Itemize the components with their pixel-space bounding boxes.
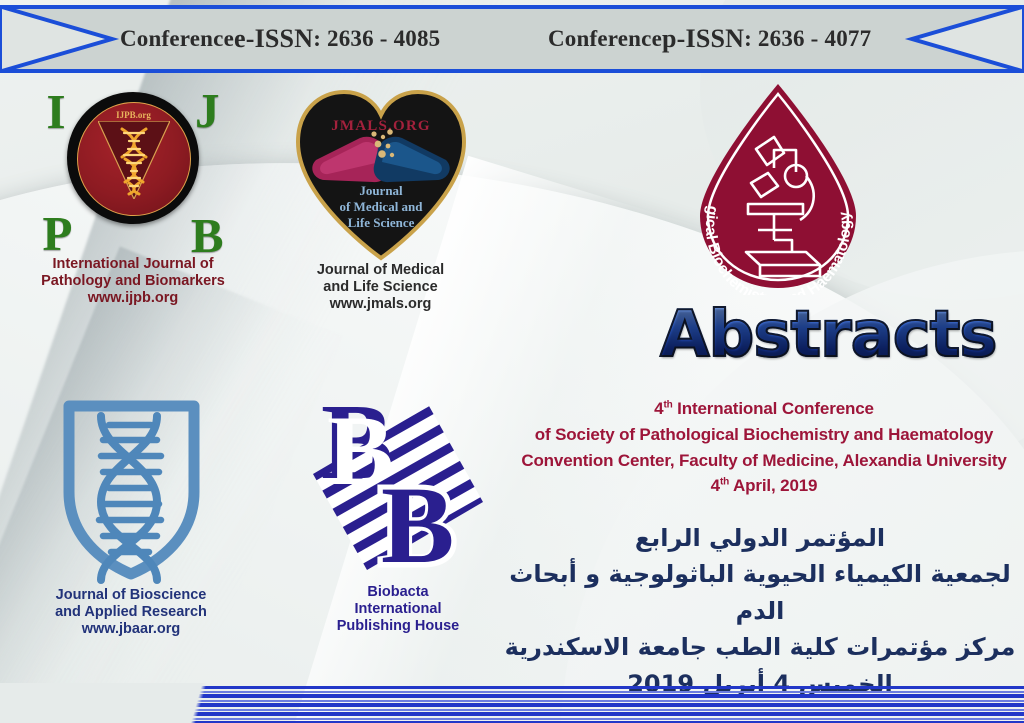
svg-text:Life Science: Life Science (347, 215, 414, 230)
logo-ijpb[interactable]: I J P B IJPB.org (8, 86, 258, 306)
conference-abstract-cover: Conference e-ISSN : 2636 - 4085 Conferen… (0, 0, 1024, 723)
conference-ordinal-suffix: th (663, 399, 672, 410)
conference-ar-line-1: المؤتمر الدولي الرابع (504, 520, 1016, 556)
svg-text:Journal: Journal (359, 183, 403, 198)
logo-biobacta[interactable]: B B B B Biobacta International Publishin… (292, 392, 504, 634)
logo-jmals[interactable]: JMALS.ORG (278, 82, 483, 312)
bottom-stripe-decoration (0, 683, 1024, 723)
jbaar-caption-url: www.jbaar.org (12, 621, 250, 638)
jbaar-shield-dna-icon (39, 392, 224, 587)
jbaar-caption-line1: Journal of Bioscience (12, 587, 250, 604)
issn-ribbon-banner: Conference e-ISSN : 2636 - 4085 Conferen… (0, 4, 1024, 74)
society-blooddrop-icon: Society of Pathological Biochemistry and… (688, 80, 868, 295)
svg-text:B: B (381, 464, 454, 584)
ijpb-dna-helix-icon (98, 121, 170, 199)
jmals-caption: Journal of Medical and Life Science www.… (278, 262, 483, 312)
jmals-org-text: JMALS.ORG (331, 118, 431, 134)
biobacta-caption-line3: Publishing House (292, 618, 504, 635)
e-issn-value: : 2636 - 4085 (313, 26, 440, 52)
blooddrop-shape: Society of Pathological Biochemistry and… (688, 80, 868, 295)
conference-p-issn: Conference p-ISSN : 2636 - 4077 (548, 4, 871, 74)
ijpb-red-disc: IJPB.org (77, 102, 191, 216)
jmals-caption-line2: and Life Science (278, 279, 483, 296)
conference-date-text: April, 2019 (729, 476, 817, 495)
page-title-abstracts: Abstracts (660, 303, 996, 367)
ijpb-letter-b: B (191, 211, 224, 260)
conference-ar-line-2: لجمعية الكيمياء الحيوية الباثولوجية و أب… (504, 556, 1016, 629)
logo-society-blooddrop[interactable]: Society of Pathological Biochemistry and… (688, 80, 878, 295)
conference-details-arabic: المؤتمر الدولي الرابع لجمعية الكيمياء ال… (504, 520, 1016, 702)
conference-line-2: of Society of Pathological Biochemistry … (512, 422, 1016, 448)
logo-jbaar[interactable]: Journal of Bioscience and Applied Resear… (12, 392, 250, 637)
conference-line-4: 4th April, 2019 (512, 473, 1016, 499)
conference-details-english: 4th International Conference of Society … (512, 396, 1016, 499)
dna-rungs (99, 425, 161, 552)
jbaar-caption-line2: and Applied Research (12, 604, 250, 621)
biobacta-bb-shape: B B B B (303, 392, 493, 584)
p-issn-prefix: Conference (548, 26, 662, 52)
ijpb-caption-url: www.ijpb.org (8, 290, 258, 307)
ijpb-caption: International Journal of Pathology and B… (8, 256, 258, 306)
jmals-heart-icon: JMALS.ORG (290, 82, 472, 262)
ijpb-letter-i: I (47, 87, 66, 136)
stripe-diagonal-mask (0, 683, 470, 723)
conference-ar-line-3: مركز مؤتمرات كلية الطب جامعة الاسكندرية (504, 629, 1016, 665)
jmals-caption-url: www.jmals.org (278, 296, 483, 313)
ijpb-letter-p: P (43, 209, 73, 258)
e-issn-label: e-ISSN (234, 24, 313, 54)
e-issn-prefix: Conference (120, 26, 234, 52)
biobacta-letter-b-bottom: B B (379, 462, 456, 584)
jbaar-caption: Journal of Bioscience and Applied Resear… (12, 587, 250, 637)
biobacta-caption-line2: International (292, 601, 504, 618)
biobacta-caption-line1: Biobacta (292, 584, 504, 601)
ijpb-caption-line2: Pathology and Biomarkers (8, 273, 258, 290)
jmals-heart-shape: JMALS.ORG (290, 82, 472, 262)
ijpb-mark-icon: I J P B IJPB.org (41, 86, 226, 256)
ijpb-org-url: IJPB.org (78, 110, 190, 120)
conference-e-issn: Conference e-ISSN : 2636 - 4085 (120, 4, 440, 74)
conference-line1-text: International Conference (673, 399, 874, 418)
p-issn-label: p-ISSN (662, 24, 744, 54)
svg-text:of Medical and: of Medical and (339, 199, 423, 214)
jbaar-shield-shape (39, 392, 224, 587)
ijpb-letter-j: J (195, 86, 220, 135)
ijpb-black-ring: IJPB.org (67, 92, 199, 224)
p-issn-value: : 2636 - 4077 (744, 26, 871, 52)
biobacta-mark-icon: B B B B (303, 392, 493, 584)
biobacta-caption: Biobacta International Publishing House (292, 584, 504, 634)
conference-date-number: 4 (711, 476, 720, 495)
conference-line-3: Convention Center, Faculty of Medicine, … (512, 448, 1016, 474)
conference-date-suffix: th (720, 477, 729, 488)
conference-line-1: 4th International Conference (512, 396, 1016, 422)
jmals-caption-line1: Journal of Medical (278, 262, 483, 279)
